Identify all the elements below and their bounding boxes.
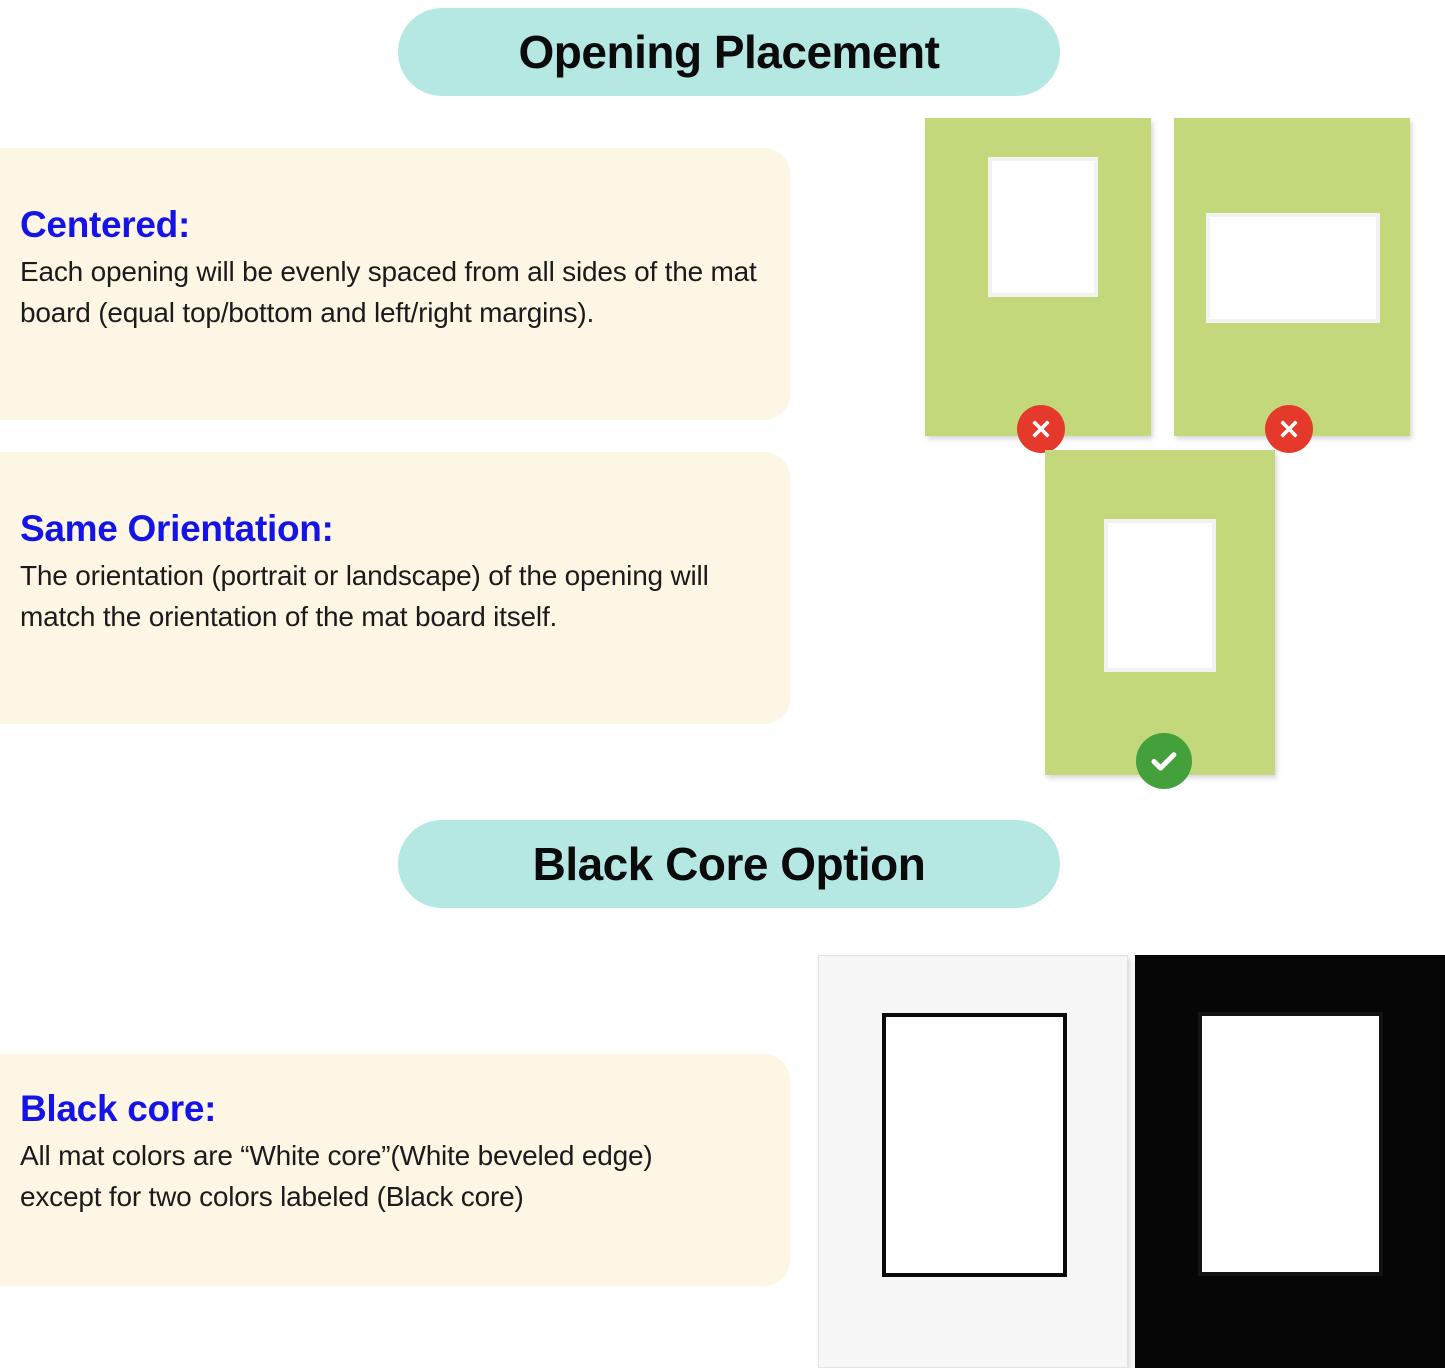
mat-opening-black-core xyxy=(882,1013,1067,1277)
info-card-black-core: Black core: All mat colors are “White co… xyxy=(0,1054,790,1286)
mat-sample-black-black-core xyxy=(1135,955,1445,1368)
status-badge-reject-2 xyxy=(1265,405,1313,453)
card-body-black-core-line1: All mat colors are “White core”(White be… xyxy=(20,1135,764,1176)
banner-label: Opening Placement xyxy=(519,25,940,79)
mat-board-landscape-opening xyxy=(1174,118,1410,436)
info-card-centered: Centered: Each opening will be evenly sp… xyxy=(0,148,790,420)
status-badge-reject-1 xyxy=(1017,405,1065,453)
card-content: Centered: Each opening will be evenly sp… xyxy=(20,204,764,333)
x-mark-icon xyxy=(1276,416,1302,442)
section-banner-opening-placement: Opening Placement xyxy=(398,8,1060,96)
mat-opening-landscape xyxy=(1206,213,1380,323)
mat-board-centered-portrait xyxy=(1045,450,1275,775)
check-mark-icon xyxy=(1148,745,1180,777)
card-body-black-core-line2: except for two colors labeled (Black cor… xyxy=(20,1176,764,1217)
mat-board-off-center-portrait xyxy=(925,118,1151,436)
banner-label: Black Core Option xyxy=(533,837,926,891)
info-card-same-orientation: Same Orientation: The orientation (portr… xyxy=(0,452,790,724)
mat-opening-black-core xyxy=(1198,1012,1383,1276)
infographic-page: Opening Placement Centered: Each opening… xyxy=(0,0,1445,1368)
card-title-same-orientation: Same Orientation: xyxy=(20,508,764,551)
card-body-same-orientation: The orientation (portrait or landscape) … xyxy=(20,555,764,638)
mat-sample-white-black-core xyxy=(818,955,1128,1368)
x-mark-icon xyxy=(1028,416,1054,442)
status-badge-accept xyxy=(1136,733,1192,789)
card-content: Black core: All mat colors are “White co… xyxy=(20,1088,764,1217)
section-banner-black-core-option: Black Core Option xyxy=(398,820,1060,908)
card-content: Same Orientation: The orientation (portr… xyxy=(20,508,764,637)
card-title-centered: Centered: xyxy=(20,204,764,247)
mat-opening-portrait xyxy=(988,157,1098,297)
mat-opening-portrait-centered xyxy=(1104,519,1216,672)
card-body-centered: Each opening will be evenly spaced from … xyxy=(20,251,764,334)
card-title-black-core: Black core: xyxy=(20,1088,764,1131)
